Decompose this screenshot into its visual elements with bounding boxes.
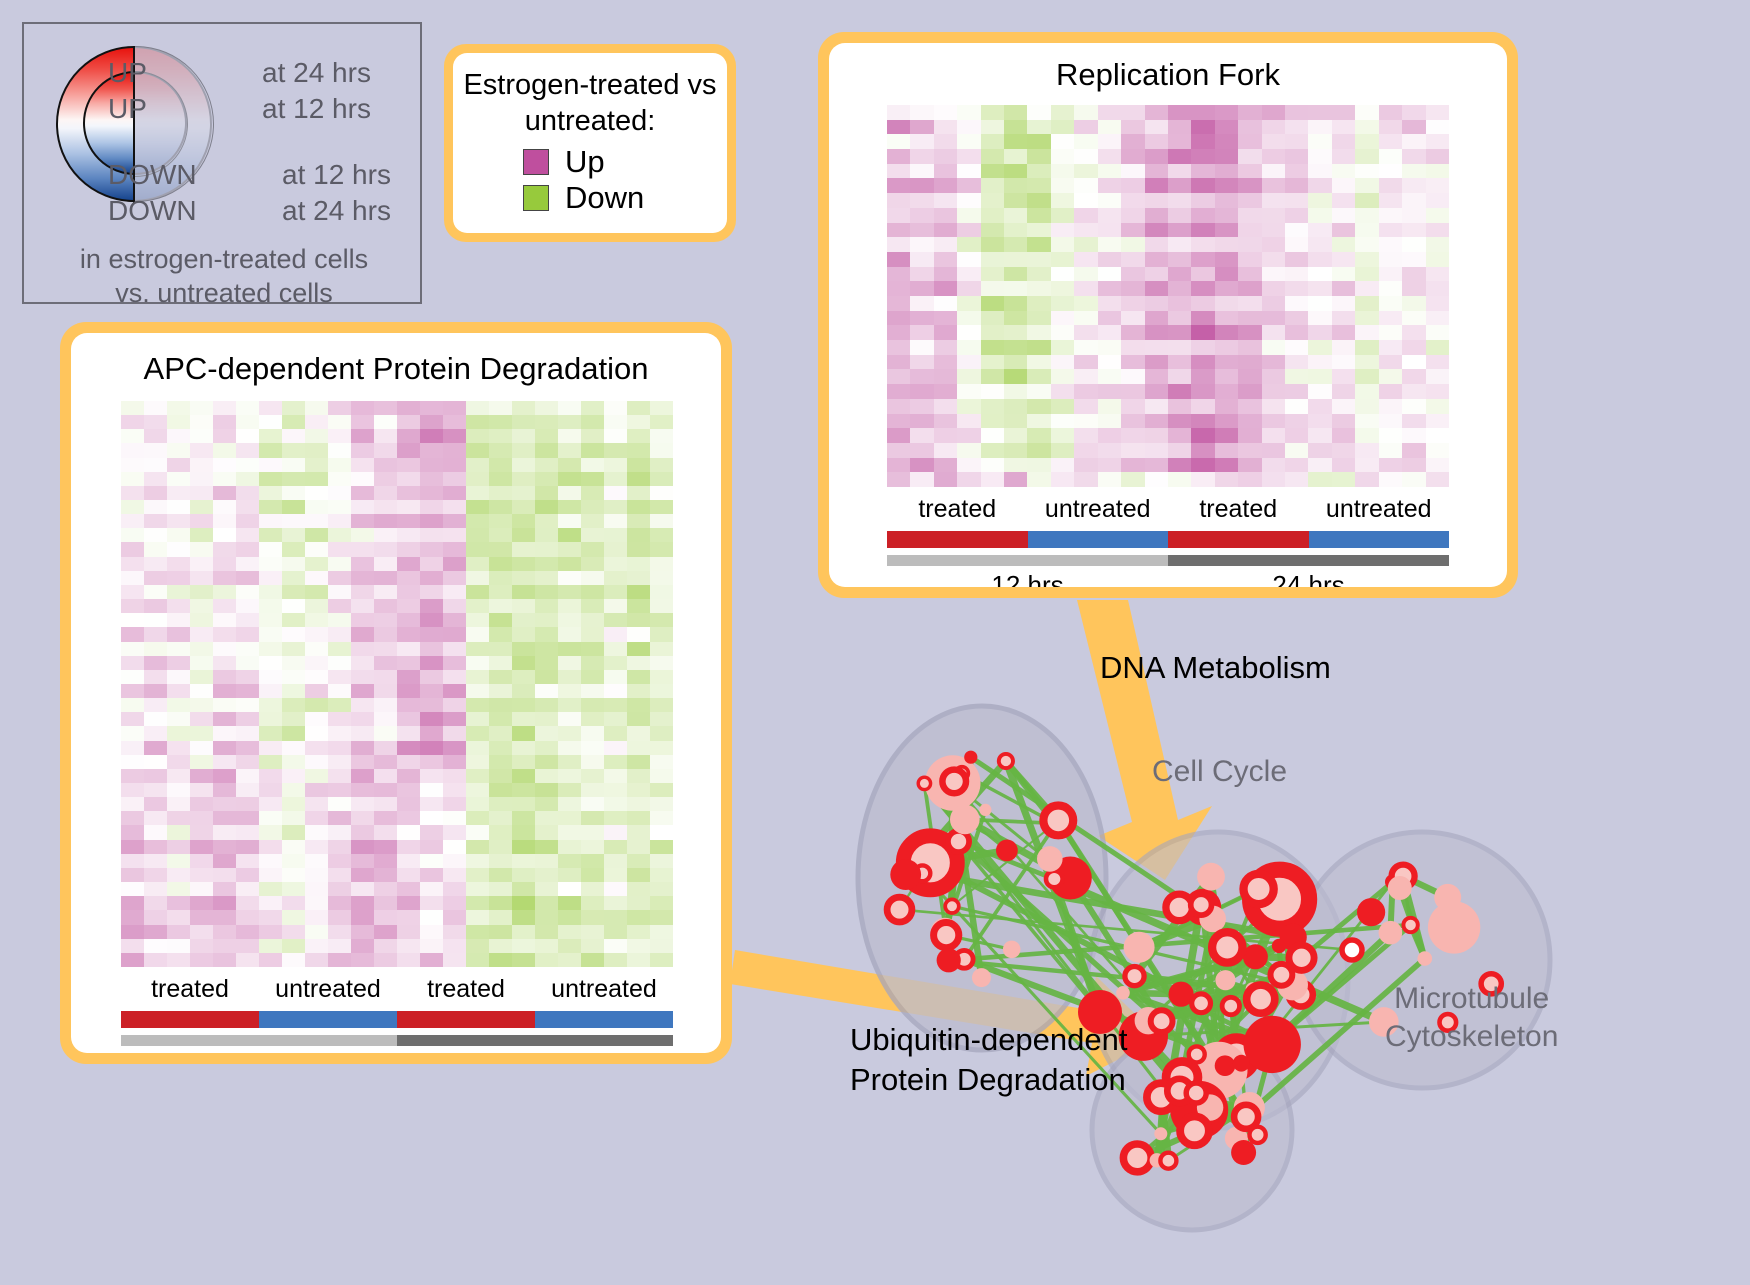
cluster-label-dna-metabolism: DNA Metabolism: [1100, 650, 1331, 686]
network-svg: [800, 620, 1750, 1280]
cluster-label-cell-cycle: Cell Cycle: [1152, 755, 1287, 789]
cluster-label-ubiquitin-degradation: Ubiquitin-dependent Protein Degradation: [850, 1020, 1128, 1100]
cluster-label-microtubule-cytoskeleton: Microtubule Cytoskeleton: [1385, 980, 1558, 1056]
network-graph: DNA Metabolism Cell Cycle Microtubule Cy…: [800, 620, 1750, 1280]
